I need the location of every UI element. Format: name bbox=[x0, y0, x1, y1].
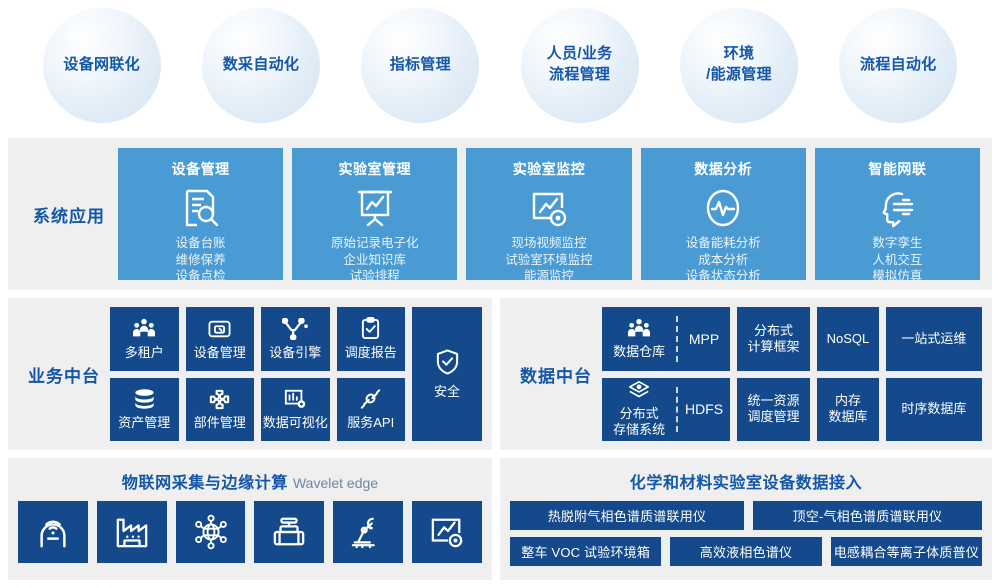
data-tile-warehouse-mpp[interactable]: 数据仓库 MPP bbox=[602, 307, 730, 371]
iot-section-title: 物联网采集与边缘计算 Wavelet edge bbox=[18, 469, 482, 493]
capability-ellipse[interactable]: 流程自动化 bbox=[839, 8, 957, 123]
biz-tile-label: 多租户 bbox=[125, 345, 164, 361]
data-tile-one-stop-ops[interactable]: 一站式运维 bbox=[886, 307, 982, 371]
data-tile-storage-hdfs[interactable]: 分布式 存储系统 HDFS bbox=[602, 378, 730, 442]
system-application-label: 系统应用 bbox=[20, 148, 118, 280]
data-tile-right-label: HDFS bbox=[678, 378, 730, 442]
document-search-icon bbox=[181, 187, 221, 229]
node-graph-icon bbox=[282, 317, 308, 341]
sysapp-card-lines: 数字孪生 人机交互 模拟仿真 bbox=[872, 235, 922, 285]
sysapp-card-lines: 设备台账 维修保养 设备点检 bbox=[176, 235, 226, 285]
sysapp-card-title: 设备管理 bbox=[172, 159, 230, 179]
sysapp-card-title: 实验室管理 bbox=[339, 159, 412, 179]
architecture-diagram: 设备网联化 数采自动化 指标管理 人员/业务 流程管理 环境 /能源管理 流程自… bbox=[0, 0, 1000, 588]
data-tile-left-label: 分布式 存储系统 bbox=[613, 406, 665, 439]
capability-ellipse[interactable]: 数采自动化 bbox=[202, 8, 320, 123]
ai-head-icon bbox=[876, 187, 918, 229]
biz-tile-multi-tenant[interactable]: 多租户 bbox=[110, 307, 179, 371]
data-tile-in-memory-db[interactable]: 内存 数据库 bbox=[817, 378, 879, 442]
data-tile-left-label: 数据仓库 bbox=[613, 344, 665, 360]
layered-cube-icon bbox=[627, 380, 651, 402]
biz-tile-security[interactable]: 安全 bbox=[412, 307, 482, 441]
sysapp-card-lab-management[interactable]: 实验室管理 原始记录电子化 企业知识库 试验排程 bbox=[292, 148, 457, 280]
sensor-device-icon bbox=[270, 515, 308, 549]
biz-tile-device-engine[interactable]: 设备引擎 bbox=[261, 307, 330, 371]
sysapp-card-lines: 设备能耗分析 成本分析 设备状态分析 bbox=[686, 235, 761, 285]
biz-tile-component-management[interactable]: 部件管理 bbox=[186, 378, 255, 442]
biz-tile-device-management[interactable]: 设备管理 bbox=[186, 307, 255, 371]
lab-chip-td-gcms[interactable]: 热脱附气相色谱质谱联用仪 bbox=[510, 501, 744, 530]
biz-tile-label: 设备引擎 bbox=[269, 345, 321, 361]
monitor-chart-eye-icon bbox=[428, 515, 466, 549]
shield-check-icon bbox=[435, 348, 460, 376]
capability-label: 人员/业务 流程管理 bbox=[547, 44, 613, 85]
data-tile-nosql[interactable]: NoSQL bbox=[817, 307, 879, 371]
clipboard-check-icon bbox=[360, 317, 381, 341]
data-platform-label: 数据中台 bbox=[510, 362, 602, 387]
capability-ellipse-row: 设备网联化 数采自动化 指标管理 人员/业务 流程管理 环境 /能源管理 流程自… bbox=[0, 0, 1000, 130]
puzzle-icon bbox=[208, 387, 231, 411]
multi-tenant-icon bbox=[132, 317, 156, 341]
biz-tile-label: 数据可视化 bbox=[263, 415, 328, 431]
biz-tile-label: 服务API bbox=[347, 415, 394, 431]
biz-tile-service-api[interactable]: 服务API bbox=[337, 378, 406, 442]
iot-network-globe-icon bbox=[193, 514, 229, 550]
lab-section: 化学和材料实验室设备数据接入 热脱附气相色谱质谱联用仪 顶空-气相色谱质谱联用仪… bbox=[500, 458, 992, 580]
plug-link-icon bbox=[358, 387, 383, 411]
sysapp-card-lines: 现场视频监控 试验室环境监控 能源监控 bbox=[505, 235, 593, 285]
bar-chart-eye-icon bbox=[283, 387, 307, 411]
lab-chip-voc-chamber[interactable]: 整车 VOC 试验环境箱 bbox=[510, 537, 661, 566]
lab-chip-icpms[interactable]: 电感耦合等离子体质普仪 bbox=[831, 537, 982, 566]
iot-section-title-cn: 物联网采集与边缘计算 bbox=[122, 475, 288, 492]
biz-tile-data-visualization[interactable]: 数据可视化 bbox=[261, 378, 330, 442]
data-tile-left: 分布式 存储系统 bbox=[602, 378, 676, 442]
iot-icon-box-sensor[interactable] bbox=[254, 501, 324, 563]
system-application-section: 系统应用 设备管理 设备台账 维修保养 设备点检 bbox=[8, 138, 992, 290]
business-platform-section: 业务中台 多租户 bbox=[8, 298, 492, 450]
capability-label: 设备网联化 bbox=[63, 55, 140, 76]
sysapp-card-lines: 原始记录电子化 企业知识库 试验排程 bbox=[331, 235, 419, 285]
monitor-chart-eye-icon bbox=[529, 187, 569, 229]
biz-tile-asset-management[interactable]: 资产管理 bbox=[110, 378, 179, 442]
sysapp-card-data-analysis[interactable]: 数据分析 设备能耗分析 成本分析 设备状态分析 bbox=[641, 148, 806, 280]
presentation-chart-icon bbox=[355, 187, 395, 229]
iot-section-title-en: Wavelet edge bbox=[293, 475, 378, 491]
capability-label: 指标管理 bbox=[390, 55, 451, 76]
data-tile-left: 数据仓库 bbox=[602, 307, 676, 371]
capability-ellipse[interactable]: 环境 /能源管理 bbox=[680, 8, 798, 123]
iot-icon-box-robot-arm[interactable] bbox=[333, 501, 403, 563]
wifi-gateway-icon bbox=[35, 514, 71, 550]
data-tile-distributed-compute[interactable]: 分布式 计算框架 bbox=[737, 307, 810, 371]
sysapp-card-intelligent-network[interactable]: 智能网联 数字孪生 人机交互 模拟仿真 bbox=[815, 148, 980, 280]
pulse-circle-icon bbox=[703, 187, 743, 229]
iot-icon-box-monitoring[interactable] bbox=[412, 501, 482, 563]
lab-section-title: 化学和材料实验室设备数据接入 bbox=[510, 469, 982, 493]
data-tile-right-label: MPP bbox=[678, 307, 730, 371]
device-box-icon bbox=[207, 317, 232, 341]
business-platform-label: 业务中台 bbox=[18, 362, 110, 387]
lab-chip-hs-gcms[interactable]: 顶空-气相色谱质谱联用仪 bbox=[753, 501, 982, 530]
capability-label: 流程自动化 bbox=[860, 55, 937, 76]
biz-tile-schedule-report[interactable]: 调度报告 bbox=[337, 307, 406, 371]
lab-chip-hplc[interactable]: 高效液相色谱仪 bbox=[670, 537, 821, 566]
database-coin-icon bbox=[132, 387, 157, 411]
iot-icon-box-gateway[interactable] bbox=[18, 501, 88, 563]
data-platform-section: 数据中台 数据仓库 bbox=[500, 298, 992, 450]
sysapp-card-device-management[interactable]: 设备管理 设备台账 维修保养 设备点检 bbox=[118, 148, 283, 280]
sysapp-card-title: 数据分析 bbox=[694, 159, 752, 179]
biz-tile-label: 资产管理 bbox=[118, 415, 170, 431]
capability-ellipse[interactable]: 指标管理 bbox=[361, 8, 479, 123]
capability-label: 数采自动化 bbox=[223, 55, 300, 76]
biz-tile-label: 安全 bbox=[434, 381, 460, 400]
data-tile-timeseries-db[interactable]: 时序数据库 bbox=[886, 378, 982, 442]
biz-tile-label: 调度报告 bbox=[345, 345, 397, 361]
sysapp-card-title: 智能网联 bbox=[868, 159, 926, 179]
sysapp-card-title: 实验室监控 bbox=[513, 159, 586, 179]
iot-icon-box-factory[interactable] bbox=[97, 501, 167, 563]
data-tile-resource-scheduling[interactable]: 统一资源 调度管理 bbox=[737, 378, 810, 442]
capability-ellipse[interactable]: 人员/业务 流程管理 bbox=[521, 8, 639, 123]
iot-section: 物联网采集与边缘计算 Wavelet edge bbox=[8, 458, 492, 580]
sysapp-card-lab-monitoring[interactable]: 实验室监控 现场视频监控 试验室环境监控 能源监控 bbox=[466, 148, 631, 280]
capability-label: 环境 /能源管理 bbox=[706, 44, 772, 85]
biz-tile-label: 设备管理 bbox=[194, 345, 246, 361]
iot-icon-box-network[interactable] bbox=[176, 501, 246, 563]
multi-tenant-icon bbox=[627, 318, 651, 340]
robot-arm-icon bbox=[349, 515, 387, 549]
biz-tile-label: 部件管理 bbox=[194, 415, 246, 431]
capability-ellipse[interactable]: 设备网联化 bbox=[43, 8, 161, 123]
factory-icon bbox=[114, 515, 150, 549]
